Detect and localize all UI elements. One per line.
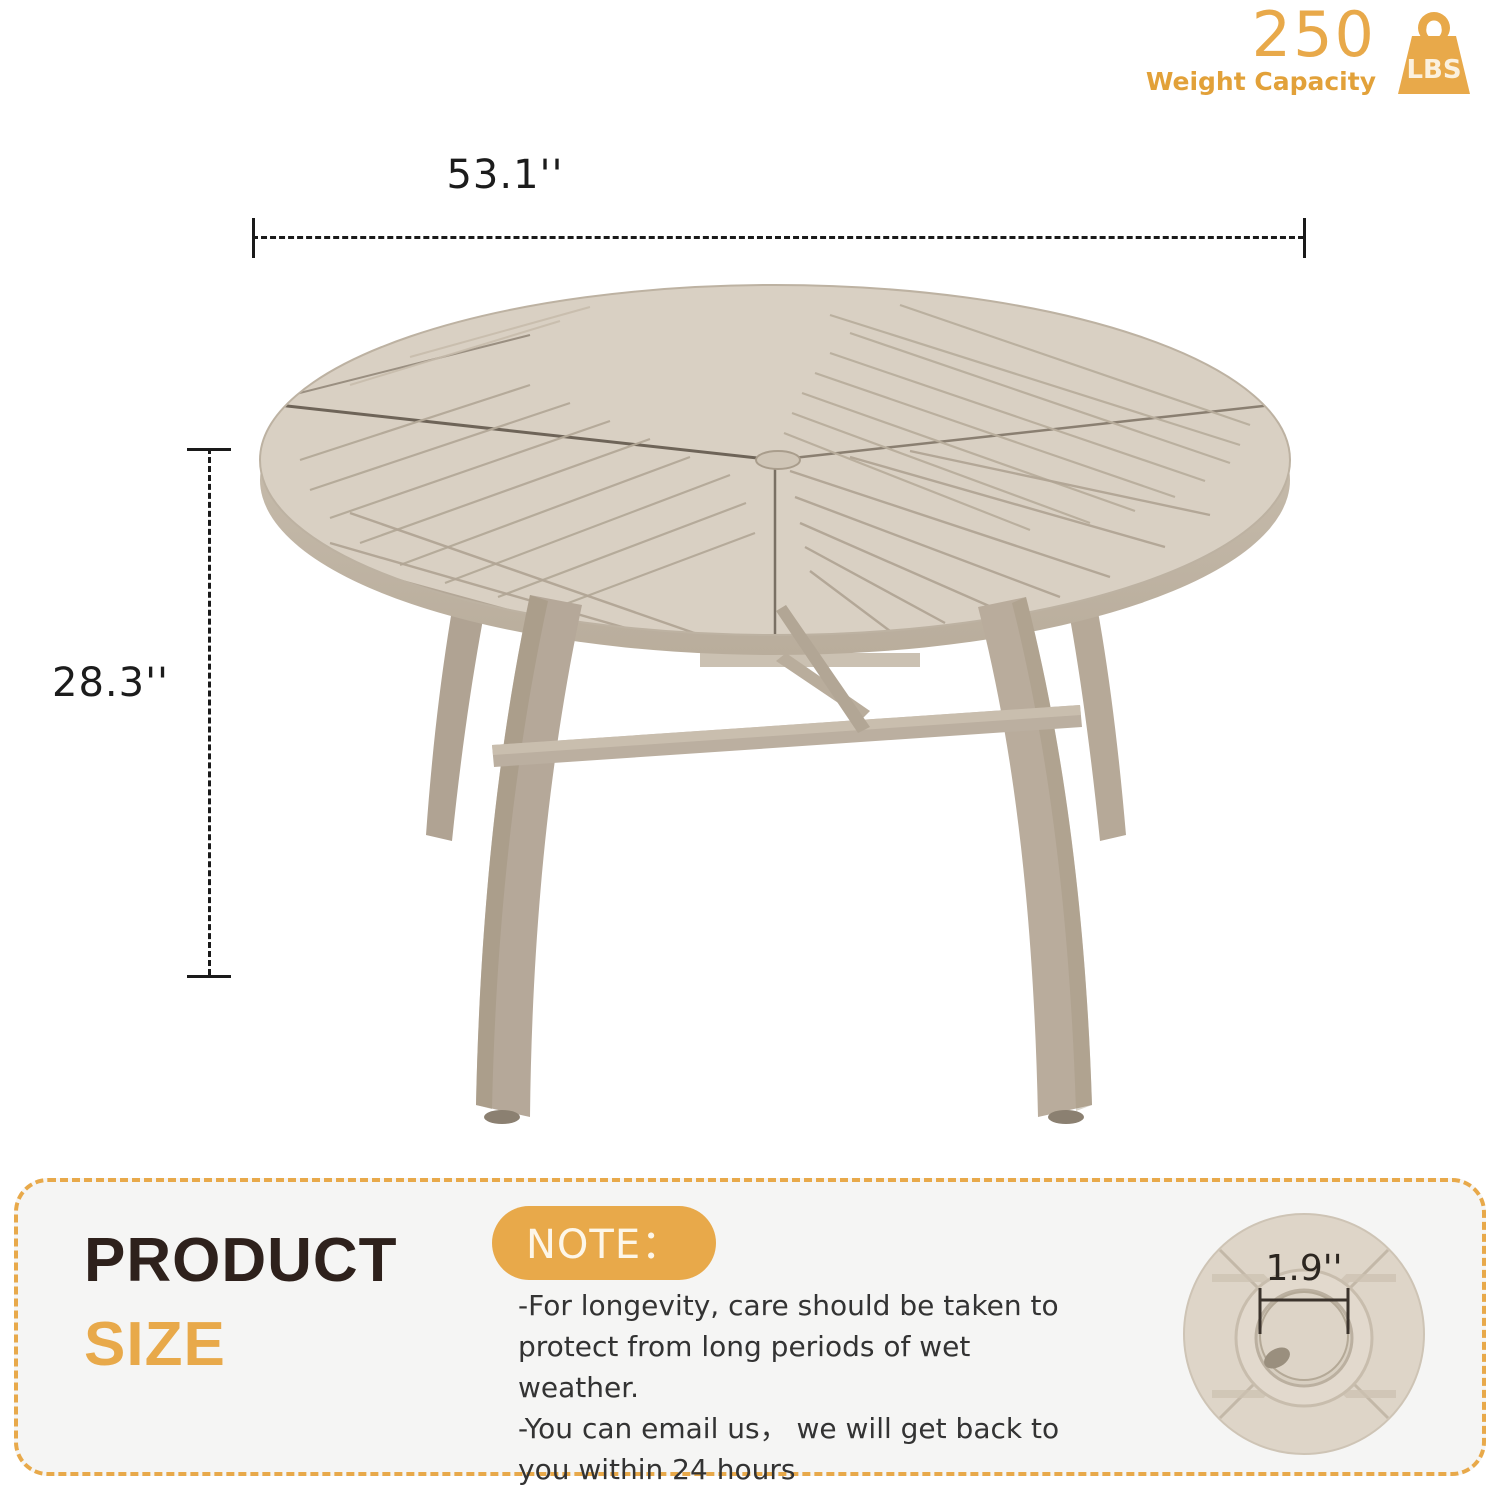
table-top [260, 285, 1320, 655]
width-tick-left [252, 218, 255, 258]
width-tick-right [1303, 218, 1306, 258]
height-tick-bottom [187, 975, 231, 978]
leg-glide-right [1048, 1110, 1084, 1124]
panel-title: PRODUCT SIZE [84, 1230, 398, 1376]
panel-title-size: SIZE [84, 1314, 398, 1376]
weight-capacity-text: 250 Weight Capacity [1146, 6, 1376, 96]
product-size-infographic: 250 Weight Capacity LBS 53.1'' 28.3'' [0, 0, 1500, 1490]
note-line-2: -You can email us， we will get back to y… [518, 1409, 1078, 1490]
note-badge: NOTE： [492, 1206, 716, 1280]
weight-capacity-caption: Weight Capacity [1146, 67, 1376, 96]
width-dimension-line [252, 236, 1304, 239]
weight-icon: LBS [1386, 8, 1482, 100]
leg-glide-left [484, 1110, 520, 1124]
umbrella-hole [756, 451, 800, 469]
panel-title-product: PRODUCT [84, 1230, 398, 1292]
height-dimension-label: 28.3'' [52, 660, 169, 706]
umbrella-hole-inset: 1.9'' [1152, 1188, 1462, 1478]
weight-capacity-value: 250 [1252, 6, 1376, 65]
height-dimension-line [208, 448, 211, 975]
height-tick-top [187, 448, 231, 451]
hole-dimension-label: 1.9'' [1265, 1248, 1342, 1289]
table-front-legs [476, 595, 1092, 1124]
note-body: -For longevity, care should be taken to … [518, 1286, 1078, 1490]
weight-unit-label: LBS [1406, 55, 1461, 85]
patio-table-illustration [230, 275, 1320, 1155]
product-size-panel: PRODUCT SIZE NOTE： -For longevity, care … [14, 1178, 1486, 1476]
weight-capacity-badge: 250 Weight Capacity LBS [1146, 6, 1482, 100]
note-line-1: -For longevity, care should be taken to … [518, 1286, 1078, 1409]
width-dimension-label: 53.1'' [0, 152, 1500, 198]
